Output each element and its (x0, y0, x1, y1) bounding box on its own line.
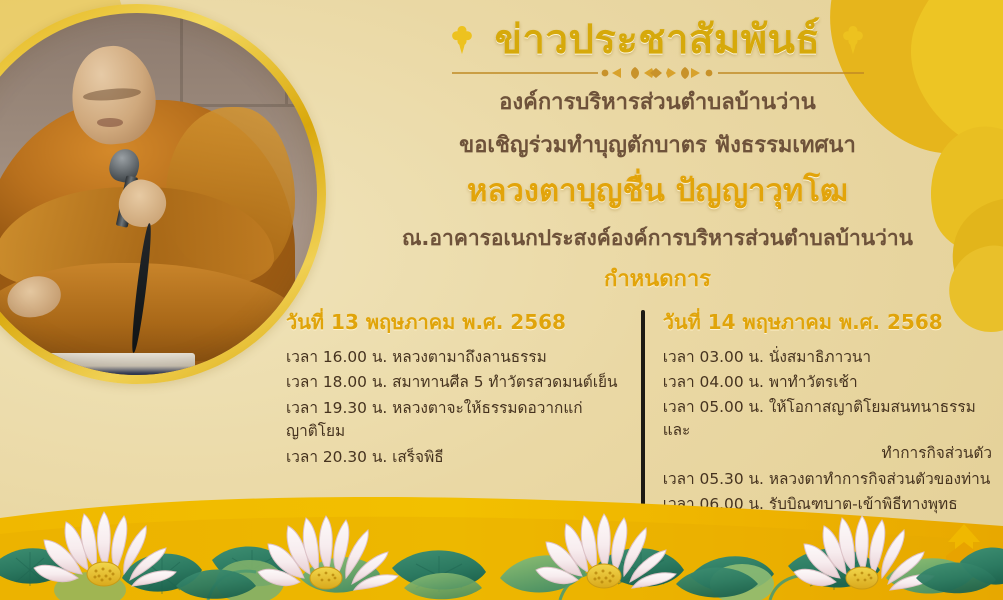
schedule-item: เวลา 04.00 น. พาทำวัตรเช้า (663, 371, 992, 394)
monk-photo-frame (0, 4, 326, 384)
schedule-column-day2: วันที่ 14 พฤษภาคม พ.ศ. 2568 เวลา 03.00 น… (645, 306, 992, 587)
poster-header: ข่าวประชาสัมพันธ์ (330, 18, 985, 296)
schedule-item-continuation: อาหาร อนุโมทนาบุญให้พร (663, 562, 992, 585)
schedule-item-continuation: ไหว้พระรับศีลถวายทาน พิจารณา (663, 539, 992, 562)
monk-name: หลวงตาบุญชื่น ปัญญาวุทโฒ (330, 171, 985, 211)
ornamental-divider-icon (448, 65, 868, 81)
page-title: ข่าวประชาสัมพันธ์ (495, 18, 821, 63)
schedule-item-text: เวลา 20.30 น. เสร็จพิธี (286, 448, 444, 466)
schedule-item: เวลา 05.30 น. หลวงตาทำการกิจส่วนตัวของท่… (663, 468, 992, 491)
invitation-text: ขอเชิญร่วมทำบุญตักบาตร ฟังธรรมเทศนา (330, 130, 985, 161)
monk-photo (0, 13, 317, 375)
schedule-item: เวลา 16.00 น. หลวงตามาถึงลานธรรม (286, 346, 631, 369)
schedule-item-continuation: ทำการกิจส่วนตัว (663, 442, 992, 465)
venue-text: ณ.อาคารอเนกประสงค์องค์การบริหารส่วนตำบลบ… (330, 224, 985, 254)
schedule-item: เวลา 03.00 น. นั่งสมาธิภาวนา (663, 346, 992, 369)
schedule-section: วันที่ 13 พฤษภาคม พ.ศ. 2568 เวลา 16.00 น… (286, 306, 992, 587)
quatrefoil-icon (447, 25, 477, 55)
schedule-item: เวลา 20.30 น. เสร็จพิธี (286, 446, 631, 469)
schedule-item-text: เวลา 18.00 น. สมาทานศีล 5 ทำวัตรสวดมนต์เ… (286, 373, 618, 391)
schedule-item: เวลา 05.00 น. ให้โอกาสญาติโยมสนทนาธรรมแล… (663, 396, 992, 465)
schedule-item: เวลา 06.00 น. รับบิณฑบาต-เข้าพิธีทางพุทธ… (663, 493, 992, 585)
day1-title: วันที่ 13 พฤษภาคม พ.ศ. 2568 (286, 306, 631, 338)
schedule-item-text: เวลา 06.00 น. รับบิณฑบาต-เข้าพิธีทางพุทธ… (663, 495, 958, 536)
schedule-item-text: เวลา 03.00 น. นั่งสมาธิภาวนา (663, 348, 871, 366)
schedule-item-text: เวลา 05.00 น. ให้โอกาสญาติโยมสนทนาธรรมแล… (663, 398, 976, 439)
organization-name: องค์การบริหารส่วนตำบลบ้านว่าน (330, 87, 985, 118)
lotus-flower (34, 512, 176, 586)
schedule-item-text: เวลา 16.00 น. หลวงตามาถึงลานธรรม (286, 348, 547, 366)
schedule-item: เวลา 19.30 น. หลวงตาจะให้ธรรมดอวากแก่ญาต… (286, 397, 631, 444)
agenda-label: กำหนดการ (330, 261, 985, 296)
schedule-column-day1: วันที่ 13 พฤษภาคม พ.ศ. 2568 เวลา 16.00 น… (286, 306, 641, 471)
poster-canvas: ข่าวประชาสัมพันธ์ (0, 0, 1003, 600)
schedule-item-text: เวลา 19.30 น. หลวงตาจะให้ธรรมดอวากแก่ญาต… (286, 399, 583, 440)
day2-title: วันที่ 14 พฤษภาคม พ.ศ. 2568 (663, 306, 992, 338)
schedule-item-text: เวลา 04.00 น. พาทำวัตรเช้า (663, 373, 858, 391)
photo-wall-seam-vertical-2 (285, 13, 288, 104)
schedule-item: เวลา 18.00 น. สมาทานศีล 5 ทำวัตรสวดมนต์เ… (286, 371, 631, 394)
headline-row: ข่าวประชาสัมพันธ์ (330, 18, 985, 63)
schedule-item-text: เวลา 05.30 น. หลวงตาทำการกิจส่วนตัวของท่… (663, 470, 991, 488)
quatrefoil-icon (838, 25, 868, 55)
